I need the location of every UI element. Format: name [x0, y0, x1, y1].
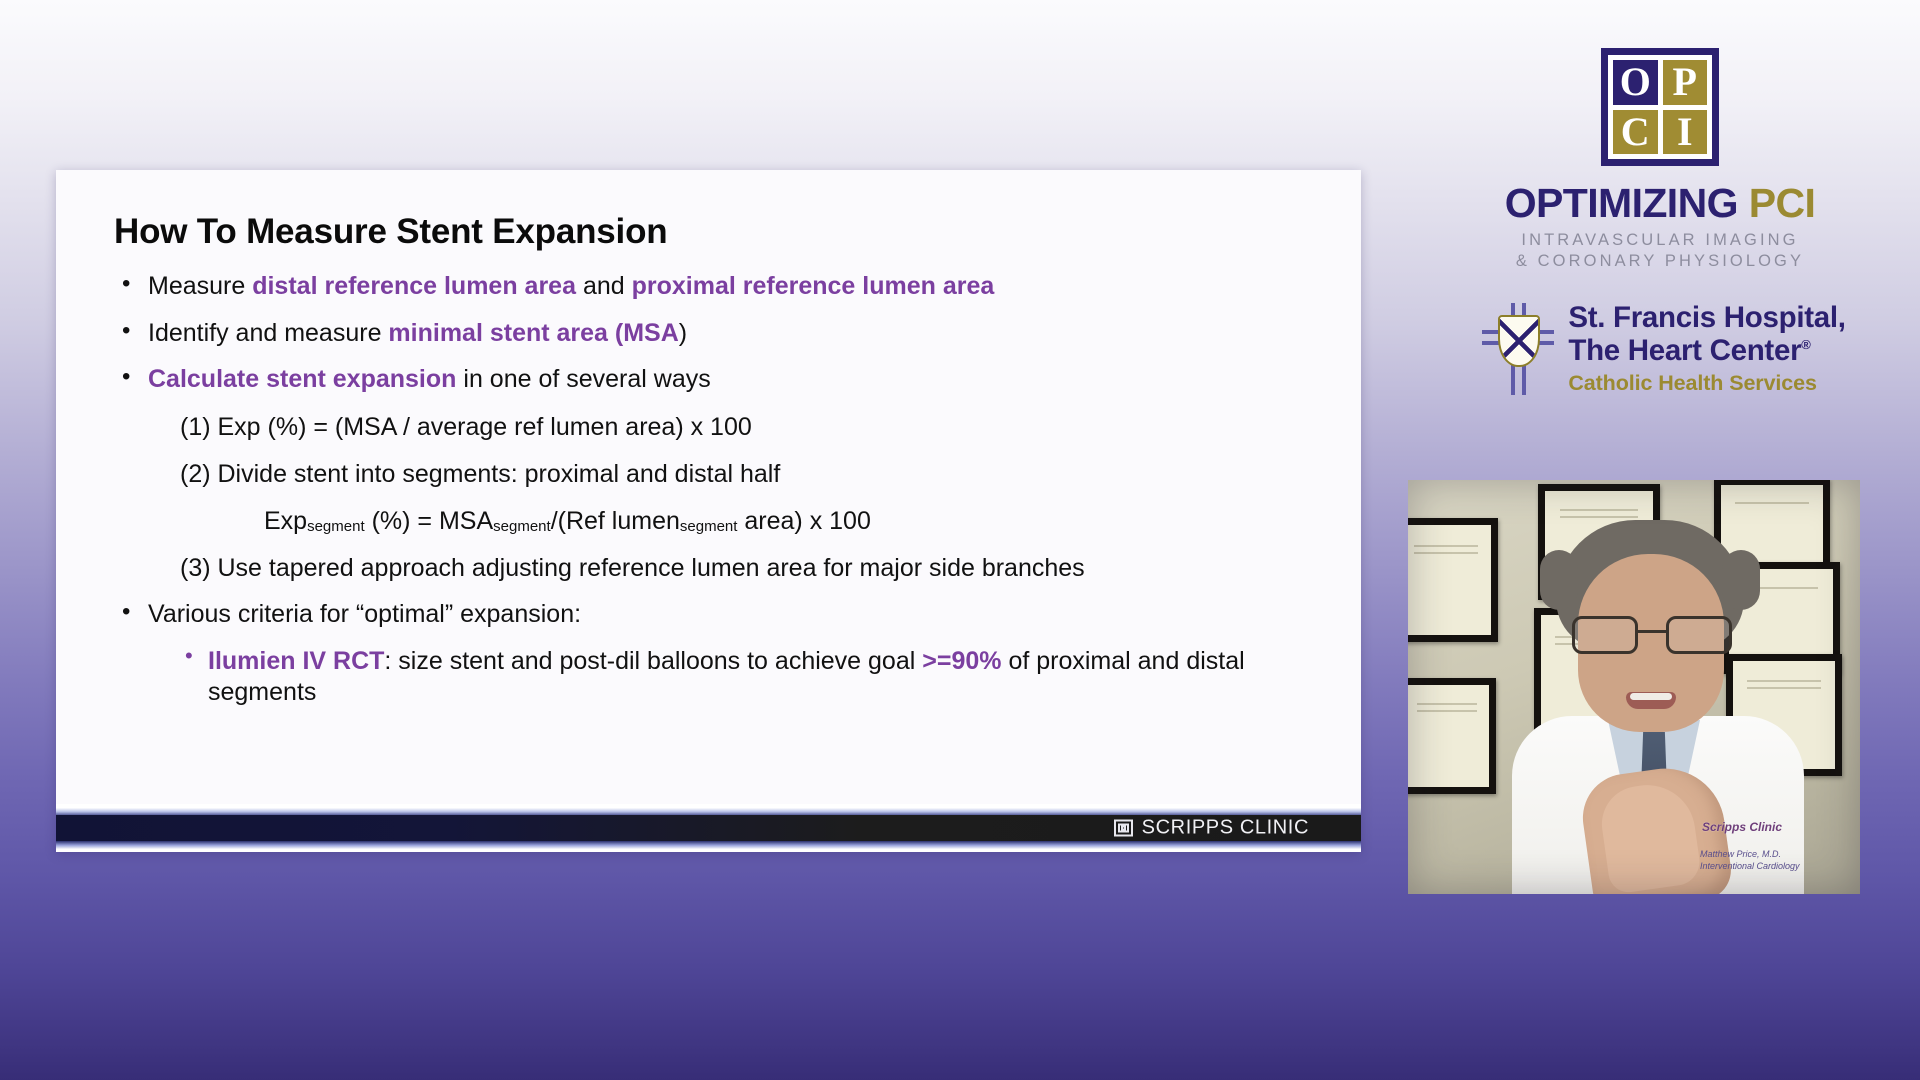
bullet-various-criteria: Various criteria for “optimal” expansion…: [114, 600, 1315, 630]
rct-body-before: : size stent and post-dil balloons to ac…: [384, 647, 922, 675]
opci-subtitle-line-2: & CORONARY PHYSIOLOGY: [1400, 252, 1920, 271]
bullet-text-plain: Identify and measure: [148, 319, 388, 347]
bullet-text-highlight-distal: distal reference lumen area: [252, 272, 576, 300]
opci-cell-p: P: [1663, 60, 1708, 105]
opci-cell-c: C: [1613, 110, 1658, 155]
opci-wordmark-optimizing: OPTIMIZING: [1505, 180, 1738, 226]
presentation-slide: How To Measure Stent Expansion Measure d…: [56, 170, 1361, 852]
bullet-measure-reference-areas: Measure distal reference lumen area and …: [114, 272, 1315, 302]
opci-cell-i: I: [1663, 110, 1708, 155]
bullet-text-highlight-calculate: Calculate stent expansion: [148, 365, 456, 393]
formula-subscript: segment: [493, 518, 551, 535]
st-francis-branding: St. Francis Hospital, The Heart Center® …: [1400, 301, 1920, 396]
eyeglasses-icon: [1568, 616, 1736, 654]
scripps-clinic-label: SCRIPPS CLINIC: [1142, 817, 1309, 840]
right-sidebar: O P C I OPTIMIZING PCI INTRAVASCULAR IMA…: [1400, 0, 1920, 1080]
slide-footer-band: SCRIPPS CLINIC: [56, 804, 1361, 852]
registered-mark: ®: [1801, 337, 1810, 352]
speaker-video-feed[interactable]: Scripps Clinic Matthew Price, M.D. Inter…: [1408, 480, 1860, 894]
coat-embroidered-name: Matthew Price, M.D. Interventional Cardi…: [1700, 848, 1804, 872]
formula-part: Exp: [264, 507, 307, 535]
opci-branding: O P C I OPTIMIZING PCI INTRAVASCULAR IMA…: [1400, 0, 1920, 271]
bullet-text-highlight-proximal: proximal reference lumen area: [632, 272, 995, 300]
formula-part: (%) = MSA: [365, 507, 494, 535]
bullet-text-plain: in one of several ways: [456, 365, 710, 393]
rct-goal-value: >=90%: [922, 647, 1001, 675]
speaker-figure: Scripps Clinic Matthew Price, M.D. Inter…: [1504, 520, 1804, 894]
slide-bullet-list: Measure distal reference lumen area and …: [114, 272, 1315, 707]
bullet-ilumien-iv-rct: Ilumien IV RCT: size stent and post-dil …: [180, 646, 1315, 707]
framed-diploma: [1408, 678, 1496, 794]
coat-scripps-logo: Scripps Clinic: [1702, 820, 1782, 834]
opci-logo-icon: O P C I: [1601, 48, 1719, 166]
bullet-calculate-expansion: Calculate stent expansion in one of seve…: [114, 365, 1315, 395]
bullet-text-plain: and: [576, 272, 632, 300]
formula-subscript: segment: [307, 518, 365, 535]
hospital-name-line-2: The Heart Center®: [1568, 334, 1845, 367]
st-francis-text-block: St. Francis Hospital, The Heart Center® …: [1568, 301, 1845, 396]
slide-content: How To Measure Stent Expansion Measure d…: [56, 170, 1361, 707]
sub-item-method-2: (2) Divide stent into segments: proximal…: [180, 459, 1315, 489]
cross-shield-icon: [1482, 303, 1554, 395]
opci-wordmark-pci: PCI: [1749, 180, 1816, 226]
bullet-text-plain: Measure: [148, 272, 252, 300]
hospital-name-line-1: St. Francis Hospital,: [1568, 301, 1845, 334]
speaker-mouth: [1626, 692, 1676, 709]
scripps-clinic-footer-brand: SCRIPPS CLINIC: [1114, 817, 1309, 840]
rct-trial-name: Ilumien IV RCT: [208, 647, 384, 675]
sub-item-method-1: (1) Exp (%) = (MSA / average ref lumen a…: [180, 412, 1315, 442]
framed-diploma: [1408, 518, 1498, 642]
scripps-square-icon: [1114, 820, 1133, 837]
opci-cell-o: O: [1613, 60, 1658, 105]
opci-wordmark: OPTIMIZING PCI: [1400, 180, 1920, 227]
bullet-text-highlight-msa: minimal stent area (MSA: [388, 319, 678, 347]
sub-item-method-3: (3) Use tapered approach adjusting refer…: [180, 553, 1315, 583]
formula-subscript: segment: [680, 518, 738, 535]
formula-part: /(Ref lumen: [551, 507, 680, 535]
formula-part: area) x 100: [737, 507, 870, 535]
catholic-health-services-tagline: Catholic Health Services: [1568, 371, 1845, 396]
hospital-name-heart-center: The Heart Center: [1568, 334, 1801, 367]
expansion-segment-formula: Expsegment (%) = MSAsegment/(Ref lumense…: [264, 506, 1315, 536]
opci-subtitle-line-1: INTRAVASCULAR IMAGING: [1400, 231, 1920, 250]
bullet-identify-msa: Identify and measure minimal stent area …: [114, 319, 1315, 349]
slide-title: How To Measure Stent Expansion: [114, 212, 1315, 252]
bullet-text-plain: ): [679, 319, 687, 347]
